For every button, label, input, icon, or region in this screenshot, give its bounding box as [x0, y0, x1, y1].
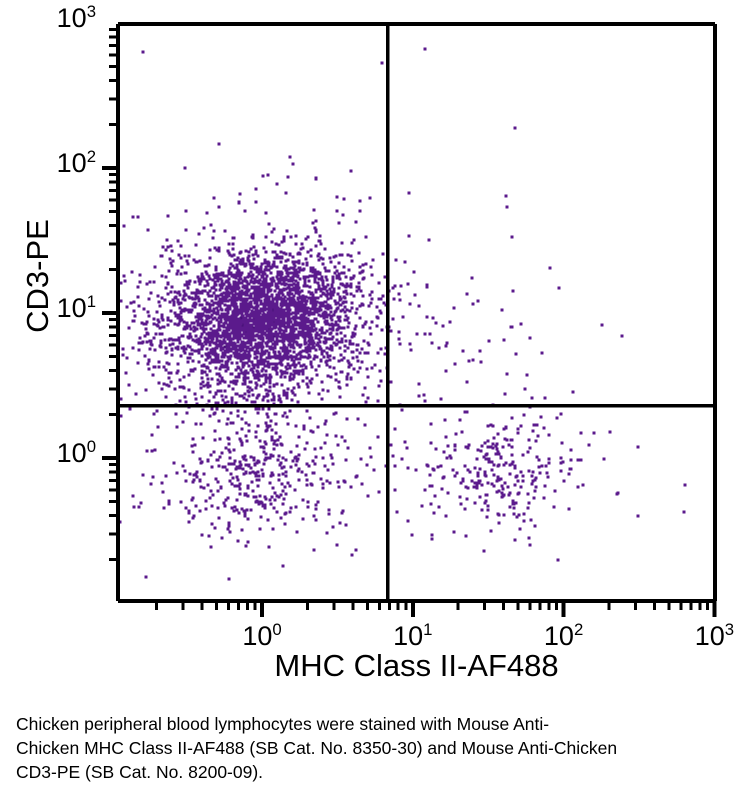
scatter-dot [211, 408, 214, 411]
scatter-dot [305, 474, 308, 477]
scatter-dot [270, 475, 273, 478]
scatter-dot [249, 316, 252, 319]
scatter-dot [279, 356, 282, 359]
scatter-dot [280, 257, 283, 260]
scatter-dot [285, 471, 288, 474]
scatter-dot [209, 370, 212, 373]
scatter-dot [322, 389, 325, 392]
scatter-dot [195, 295, 198, 298]
scatter-dot [272, 264, 275, 267]
scatter-dot [307, 386, 310, 389]
scatter-dot [518, 492, 521, 495]
scatter-dot [200, 462, 203, 465]
scatter-dot [298, 262, 301, 265]
scatter-dot [466, 293, 469, 296]
scatter-dot [374, 364, 377, 367]
scatter-dot [342, 510, 345, 513]
scatter-dot [370, 333, 373, 336]
scatter-dot [473, 486, 476, 489]
scatter-dot [248, 391, 251, 394]
scatter-dot [280, 329, 283, 332]
scatter-dot [353, 368, 356, 371]
scatter-dot [174, 388, 177, 391]
scatter-dot [195, 505, 198, 508]
scatter-dot [376, 306, 379, 309]
scatter-dot [360, 458, 363, 461]
scatter-dot [247, 331, 250, 334]
scatter-dot [264, 285, 267, 288]
scatter-dot [357, 344, 360, 347]
scatter-dot [531, 397, 534, 400]
scatter-dot [380, 380, 383, 383]
scatter-dot [317, 321, 320, 324]
scatter-dot [220, 298, 223, 301]
scatter-dot [245, 350, 248, 353]
scatter-dot [365, 263, 368, 266]
scatter-dot [267, 314, 270, 317]
scatter-dot [303, 328, 306, 331]
scatter-dot [234, 352, 237, 355]
scatter-dot [209, 249, 212, 252]
scatter-dot [236, 509, 239, 512]
scatter-dot [310, 430, 313, 433]
scatter-dot [240, 293, 243, 296]
scatter-dot [424, 489, 427, 492]
scatter-dot [280, 347, 283, 350]
scatter-dot [290, 267, 293, 270]
scatter-dot [153, 318, 156, 321]
scatter-dot [503, 428, 506, 431]
scatter-dot [144, 335, 147, 338]
scatter-dot [184, 309, 187, 312]
scatter-dot [221, 537, 224, 540]
scatter-dot [291, 293, 294, 296]
scatter-dot [152, 476, 155, 479]
scatter-dot [528, 439, 531, 442]
scatter-dot [340, 332, 343, 335]
scatter-dot [255, 387, 258, 390]
scatter-dot [153, 323, 156, 326]
scatter-dot [243, 327, 246, 330]
scatter-dot [200, 327, 203, 330]
scatter-dot [207, 292, 210, 295]
scatter-dot [336, 329, 339, 332]
scatter-dot [161, 297, 164, 300]
scatter-dot [211, 378, 214, 381]
scatter-dot [320, 478, 323, 481]
scatter-dot [215, 269, 218, 272]
scatter-dot [300, 248, 303, 251]
scatter-dot [211, 466, 214, 469]
scatter-dot [544, 485, 547, 488]
scatter-dot [399, 343, 402, 346]
scatter-dot [543, 427, 546, 430]
scatter-dot [225, 293, 228, 296]
scatter-dot [128, 384, 131, 387]
scatter-dot [337, 293, 340, 296]
scatter-dot [289, 485, 292, 488]
scatter-dot [317, 282, 320, 285]
scatter-dot [267, 394, 270, 397]
scatter-dot [357, 371, 360, 374]
scatter-dot [260, 288, 263, 291]
scatter-dot [527, 493, 530, 496]
scatter-dot [270, 455, 273, 458]
scatter-dot [184, 299, 187, 302]
scatter-dot [237, 273, 240, 276]
scatter-dot [486, 453, 489, 456]
scatter-dot [240, 360, 243, 363]
scatter-dot [227, 343, 230, 346]
scatter-dot [218, 465, 221, 468]
scatter-dot [145, 389, 148, 392]
scatter-dot [297, 401, 300, 404]
scatter-dot [295, 314, 298, 317]
scatter-dot [231, 400, 234, 403]
scatter-dot [683, 511, 686, 514]
scatter-dot [238, 202, 241, 205]
scatter-dot [187, 263, 190, 266]
scatter-dot [141, 322, 144, 325]
scatter-dot [183, 387, 186, 390]
scatter-dot [313, 549, 316, 552]
scatter-dot [480, 450, 483, 453]
scatter-dot [240, 274, 243, 277]
scatter-dot [290, 373, 293, 376]
scatter-dot [343, 266, 346, 269]
scatter-dot [211, 295, 214, 298]
scatter-dot [315, 508, 318, 511]
scatter-dot [191, 499, 194, 502]
scatter-dot [235, 297, 238, 300]
scatter-dot [187, 287, 190, 290]
scatter-dot [284, 486, 287, 489]
scatter-dot [366, 368, 369, 371]
scatter-dot [233, 380, 236, 383]
scatter-dot [274, 499, 277, 502]
scatter-dot [138, 342, 141, 345]
scatter-dot [313, 325, 316, 328]
scatter-dot [248, 306, 251, 309]
scatter-dot [158, 361, 161, 364]
scatter-dot [263, 303, 266, 306]
scatter-dot [240, 350, 243, 353]
scatter-dot [259, 268, 262, 271]
scatter-dot [496, 448, 499, 451]
scatter-dot [286, 397, 289, 400]
scatter-dot [223, 296, 226, 299]
scatter-dot [390, 444, 393, 447]
scatter-dot [276, 363, 279, 366]
scatter-dot [263, 383, 266, 386]
scatter-dot [137, 286, 140, 289]
scatter-dot [293, 351, 296, 354]
scatter-dot [226, 332, 229, 335]
scatter-dot [263, 313, 266, 316]
scatter-dot [223, 275, 226, 278]
scatter-dot [120, 282, 123, 285]
scatter-dot [184, 272, 187, 275]
scatter-dot [290, 236, 293, 239]
scatter-dot [338, 341, 341, 344]
scatter-dot [138, 305, 141, 308]
scatter-dot [325, 312, 328, 315]
scatter-dot [334, 311, 337, 314]
scatter-dot [501, 309, 504, 312]
scatter-dot [283, 394, 286, 397]
scatter-dot [200, 486, 203, 489]
scatter-dot [187, 361, 190, 364]
scatter-dot [189, 357, 192, 360]
scatter-dot [248, 395, 251, 398]
scatter-dot [315, 369, 318, 372]
scatter-dot [237, 313, 240, 316]
scatter-dot [293, 283, 296, 286]
scatter-dot [351, 260, 354, 263]
scatter-dot [358, 286, 361, 289]
scatter-dot [138, 506, 141, 509]
scatter-dot [238, 318, 241, 321]
scatter-dot [298, 479, 301, 482]
scatter-dot [207, 338, 210, 341]
scatter-dot [239, 461, 242, 464]
scatter-dot [282, 341, 285, 344]
scatter-dot [252, 364, 255, 367]
scatter-dot [226, 423, 229, 426]
scatter-dot [214, 527, 217, 530]
scatter-dot [205, 500, 208, 503]
scatter-dot [336, 544, 339, 547]
scatter-dot [179, 400, 182, 403]
scatter-dot [229, 531, 232, 534]
scatter-dot [143, 308, 146, 311]
scatter-dot [529, 544, 532, 547]
scatter-dot [321, 353, 324, 356]
scatter-dot [328, 513, 331, 516]
scatter-dot [285, 493, 288, 496]
scatter-dot [255, 253, 258, 256]
scatter-dot [293, 273, 296, 276]
scatter-dot [259, 335, 262, 338]
scatter-dot [287, 275, 290, 278]
scatter-dot [217, 481, 220, 484]
scatter-dot [251, 349, 254, 352]
scatter-dot [271, 241, 274, 244]
scatter-dot [269, 482, 272, 485]
scatter-dot [338, 381, 341, 384]
scatter-dot [245, 291, 248, 294]
scatter-dot [477, 449, 480, 452]
scatter-dot [354, 328, 357, 331]
scatter-dot [194, 350, 197, 353]
scatter-dot [247, 487, 250, 490]
scatter-dot [286, 392, 289, 395]
scatter-dot [201, 377, 204, 380]
scatter-dot [146, 341, 149, 344]
scatter-dot [142, 474, 145, 477]
scatter-dot [255, 286, 258, 289]
scatter-dot [147, 363, 150, 366]
scatter-dot [201, 396, 204, 399]
scatter-dot [186, 260, 189, 263]
scatter-dot [300, 306, 303, 309]
scatter-dot [278, 455, 281, 458]
scatter-dot [557, 559, 560, 562]
scatter-dot [315, 276, 318, 279]
scatter-dot [267, 291, 270, 294]
scatter-dot [203, 473, 206, 476]
scatter-dot [265, 374, 268, 377]
scatter-dot [245, 435, 248, 438]
scatter-dot [443, 451, 446, 454]
scatter-dot [308, 280, 311, 283]
scatter-dot [242, 341, 245, 344]
scatter-dot [441, 488, 444, 491]
scatter-dot [252, 371, 255, 374]
scatter-dot [162, 246, 165, 249]
scatter-dot [211, 523, 214, 526]
scatter-dot [370, 302, 373, 305]
scatter-dot [512, 290, 515, 293]
scatter-dot [247, 276, 250, 279]
scatter-dot [129, 408, 132, 411]
scatter-dot [544, 397, 547, 400]
scatter-dot [236, 499, 239, 502]
scatter-dot [310, 320, 313, 323]
scatter-dot [219, 329, 222, 332]
scatter-dot [243, 337, 246, 340]
scatter-dot [161, 482, 164, 485]
scatter-dot [316, 332, 319, 335]
scatter-dot [197, 276, 200, 279]
scatter-dot [260, 501, 263, 504]
scatter-dot [367, 376, 370, 379]
scatter-dot [236, 380, 239, 383]
scatter-dot [343, 291, 346, 294]
scatter-dot [398, 331, 401, 334]
scatter-dot [536, 456, 539, 459]
scatter-dot [302, 373, 305, 376]
scatter-dot [159, 333, 162, 336]
scatter-dot [270, 289, 273, 292]
scatter-dot [340, 371, 343, 374]
scatter-dot [168, 500, 171, 503]
scatter-dot [273, 228, 276, 231]
scatter-dot [192, 339, 195, 342]
scatter-dot [320, 447, 323, 450]
scatter-dot [228, 449, 231, 452]
scatter-dot [268, 296, 271, 299]
scatter-dot [219, 375, 222, 378]
scatter-dot [159, 305, 162, 308]
scatter-dot [201, 534, 204, 537]
scatter-dot [260, 446, 263, 449]
scatter-dot [183, 321, 186, 324]
scatter-dot [253, 246, 256, 249]
scatter-dot [527, 451, 530, 454]
scatter-dot [195, 316, 198, 319]
scatter-dot [528, 470, 531, 473]
scatter-dot [243, 344, 246, 347]
scatter-dot [402, 316, 405, 319]
scatter-dot [333, 367, 336, 370]
scatter-dot [178, 254, 181, 257]
scatter-dot [271, 439, 274, 442]
scatter-dot [446, 457, 449, 460]
scatter-dot [255, 436, 258, 439]
scatter-dot [273, 507, 276, 510]
scatter-dot [514, 484, 517, 487]
scatter-dot [547, 476, 550, 479]
scatter-dot [367, 352, 370, 355]
scatter-dot [173, 339, 176, 342]
scatter-dot [142, 51, 145, 54]
scatter-dot [295, 235, 298, 238]
scatter-dot [320, 243, 323, 246]
scatter-dot [353, 295, 356, 298]
scatter-dot [158, 366, 161, 369]
scatter-dot [262, 276, 265, 279]
scatter-dot [195, 423, 198, 426]
scatter-dot [219, 315, 222, 318]
scatter-dot [322, 487, 325, 490]
scatter-dot [320, 257, 323, 260]
scatter-dot [203, 365, 206, 368]
scatter-dot [346, 378, 349, 381]
scatter-dot [189, 333, 192, 336]
scatter-dot [194, 444, 197, 447]
scatter-dot [333, 357, 336, 360]
scatter-dot [224, 315, 227, 318]
scatter-dot [479, 496, 482, 499]
scatter-dot [298, 436, 301, 439]
scatter-dot [264, 325, 267, 328]
scatter-dot [577, 486, 580, 489]
scatter-dot [235, 393, 238, 396]
scatter-dot [588, 444, 591, 447]
scatter-dot [252, 237, 255, 240]
scatter-dot [267, 174, 270, 177]
scatter-dot [125, 372, 128, 375]
scatter-dot [284, 513, 287, 516]
scatter-dot [371, 367, 374, 370]
scatter-dot [284, 412, 287, 415]
scatter-dot [267, 264, 270, 267]
scatter-dot [210, 328, 213, 331]
scatter-dot [361, 483, 364, 486]
scatter-dot [159, 345, 162, 348]
scatter-dot [292, 331, 295, 334]
scatter-dot [230, 473, 233, 476]
scatter-dot [495, 445, 498, 448]
scatter-dot [223, 323, 226, 326]
scatter-dot [359, 210, 362, 213]
scatter-dot [147, 311, 150, 314]
scatter-dot [301, 321, 304, 324]
scatter-dot [185, 229, 188, 232]
scatter-dot [285, 328, 288, 331]
scatter-dot [285, 475, 288, 478]
scatter-dot [381, 329, 384, 332]
scatter-dot [257, 360, 260, 363]
scatter-dot [240, 308, 243, 311]
scatter-dot [217, 310, 220, 313]
scatter-dot [238, 356, 241, 359]
scatter-dot [213, 312, 216, 315]
scatter-dot [373, 469, 376, 472]
scatter-dot [258, 379, 261, 382]
scatter-dot [202, 308, 205, 311]
